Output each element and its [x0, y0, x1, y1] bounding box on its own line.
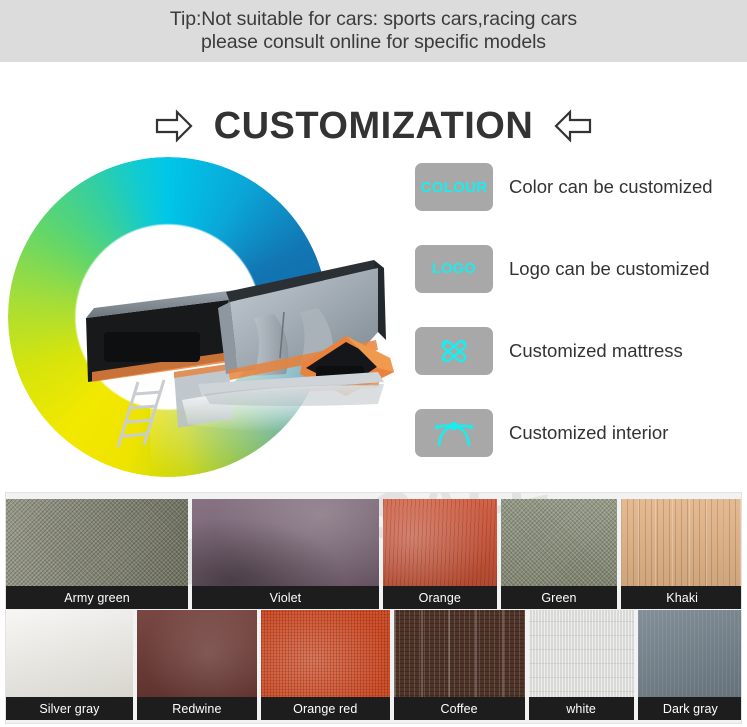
swatch-label: Orange red [261, 697, 390, 720]
feature-row-mattress[interactable]: Customized mattress [415, 327, 745, 375]
swatch-label: Orange [383, 586, 497, 609]
swatch-label: Army green [6, 586, 188, 609]
swatch-label: Silver gray [6, 697, 133, 720]
swatch-silver-gray[interactable]: Silver gray [6, 610, 133, 720]
fabric-swatch-panel: WHOLESALE Army green Violet Orange Green [5, 492, 742, 724]
swatch-violet[interactable]: Violet [192, 499, 379, 609]
arrow-left-outline-icon [553, 109, 593, 143]
swatch-khaki[interactable]: Khaki [621, 499, 742, 609]
interior-badge [415, 409, 493, 457]
feature-row-interior[interactable]: Customized interior [415, 409, 745, 457]
colour-badge: COLOUR [415, 163, 493, 211]
swatch-orange-red[interactable]: Orange red [261, 610, 390, 720]
customization-page: Tip:Not suitable for cars: sports cars,r… [0, 0, 747, 727]
tip-line-1: Tip:Not suitable for cars: sports cars,r… [170, 8, 577, 31]
swatch-label: Khaki [621, 586, 742, 609]
feature-row-colour[interactable]: COLOUR Color can be customized [415, 163, 745, 211]
feature-label-colour: Color can be customized [509, 176, 713, 198]
swatch-row-2: Silver gray Redwine Orange red Coffee wh… [6, 610, 742, 720]
swatch-label: Dark gray [638, 697, 742, 720]
tip-line-2: please consult online for specific model… [201, 31, 546, 54]
swatch-redwine[interactable]: Redwine [137, 610, 257, 720]
swatch-army-green[interactable]: Army green [6, 499, 188, 609]
swatch-label: Redwine [137, 697, 257, 720]
swatch-label: Green [501, 586, 618, 609]
logo-text-icon: LOGO [432, 261, 476, 277]
swatch-coffee[interactable]: Coffee [394, 610, 525, 720]
swatch-white[interactable]: white [529, 610, 634, 720]
feature-list: COLOUR Color can be customized LOGO Logo… [415, 163, 745, 491]
swatch-label: Violet [192, 586, 379, 609]
hero-illustration [0, 150, 410, 490]
colour-text-icon: COLOUR [421, 179, 488, 196]
swatch-row-1: Army green Violet Orange Green Khaki [6, 499, 742, 609]
logo-badge: LOGO [415, 245, 493, 293]
feature-row-logo[interactable]: LOGO Logo can be customized [415, 245, 745, 293]
swatch-dark-gray[interactable]: Dark gray [638, 610, 742, 720]
swatch-green[interactable]: Green [501, 499, 618, 609]
swatch-orange[interactable]: Orange [383, 499, 497, 609]
feature-label-interior: Customized interior [509, 422, 668, 444]
crossed-mattress-icon [434, 334, 474, 368]
tip-banner: Tip:Not suitable for cars: sports cars,r… [0, 0, 747, 62]
tent-canopy-icon [432, 417, 476, 449]
feature-label-logo: Logo can be customized [509, 258, 710, 280]
arrow-right-outline-icon [154, 109, 194, 143]
rooftop-tent-photo-icon [78, 232, 408, 467]
mattress-badge [415, 327, 493, 375]
swatch-label: Coffee [394, 697, 525, 720]
section-title-row: CUSTOMIZATION [0, 96, 747, 156]
swatch-label: white [529, 697, 634, 720]
page-title: CUSTOMIZATION [214, 105, 534, 148]
feature-label-mattress: Customized mattress [509, 340, 683, 362]
